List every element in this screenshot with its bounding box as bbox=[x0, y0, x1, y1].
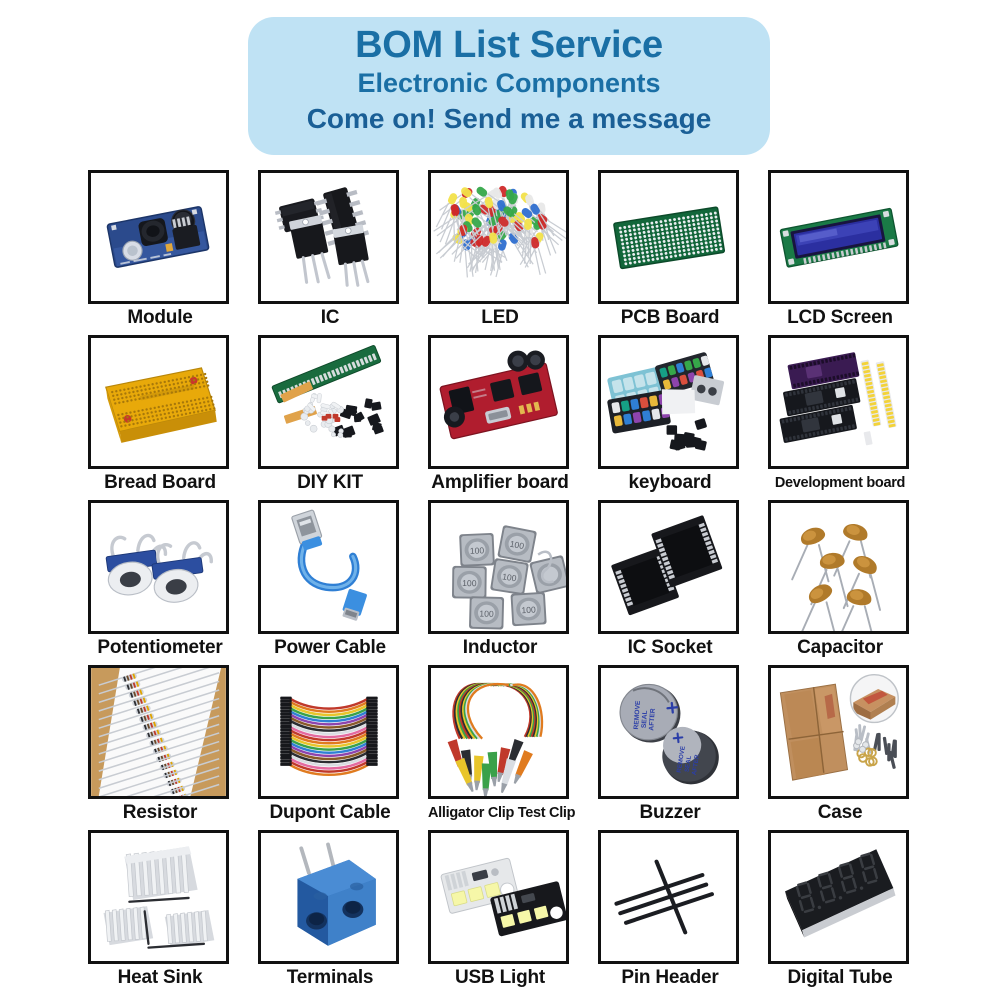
product-cell-ic[interactable]: IC bbox=[258, 170, 428, 335]
product-label: LCD Screen bbox=[768, 307, 912, 329]
product-label: Case bbox=[768, 802, 912, 824]
product-category-grid: Module bbox=[88, 170, 938, 995]
product-image-frame[interactable] bbox=[88, 170, 229, 304]
page-subtitle: Electronic Components bbox=[248, 67, 770, 99]
product-label: Development board bbox=[768, 472, 912, 494]
product-label: USB Light bbox=[428, 967, 572, 989]
product-label: IC Socket bbox=[598, 637, 742, 659]
inductor-icon: 100100100100100100 bbox=[431, 503, 566, 631]
product-image-frame[interactable] bbox=[258, 335, 399, 469]
product-image-frame[interactable] bbox=[768, 830, 909, 964]
svg-text:100: 100 bbox=[479, 608, 494, 618]
product-cell-case[interactable]: Case bbox=[768, 665, 938, 830]
alligator-clip-icon bbox=[431, 668, 566, 796]
product-image-frame[interactable] bbox=[768, 170, 909, 304]
product-label: Inductor bbox=[428, 637, 572, 659]
product-image-frame[interactable] bbox=[598, 830, 739, 964]
product-cell-module[interactable]: Module bbox=[88, 170, 258, 335]
potentiometer-icon bbox=[91, 503, 226, 631]
product-cell-diy-kit[interactable]: DIY KIT bbox=[258, 335, 428, 500]
product-image-frame[interactable] bbox=[258, 830, 399, 964]
digital-tube-icon bbox=[771, 833, 906, 961]
product-image-frame[interactable] bbox=[598, 500, 739, 634]
product-image-frame[interactable] bbox=[768, 335, 909, 469]
product-cell-amplifier-board[interactable]: Amplifier board bbox=[428, 335, 598, 500]
product-image-frame[interactable] bbox=[88, 335, 229, 469]
product-image-frame[interactable] bbox=[258, 170, 399, 304]
diy-kit-icon bbox=[261, 338, 396, 466]
product-label: Buzzer bbox=[598, 802, 742, 824]
product-cell-power-cable[interactable]: Power Cable bbox=[258, 500, 428, 665]
product-label: Bread Board bbox=[88, 472, 232, 494]
product-image-frame[interactable] bbox=[598, 170, 739, 304]
product-label: Power Cable bbox=[258, 637, 402, 659]
product-cell-development-board[interactable]: Development board bbox=[768, 335, 938, 500]
development-board-icon bbox=[771, 338, 906, 466]
product-image-frame[interactable] bbox=[258, 500, 399, 634]
dupont-cable-icon bbox=[261, 668, 396, 796]
heat-sink-icon bbox=[91, 833, 226, 961]
product-image-frame[interactable]: 100100100100100100 bbox=[428, 500, 569, 634]
product-cell-keyboard[interactable]: keyboard bbox=[598, 335, 768, 500]
product-image-frame[interactable] bbox=[428, 830, 569, 964]
product-cell-usb-light[interactable]: USB Light bbox=[428, 830, 598, 995]
product-label: Resistor bbox=[88, 802, 232, 824]
resistor-icon bbox=[91, 668, 226, 796]
usb-light-icon bbox=[431, 833, 566, 961]
product-image-frame[interactable] bbox=[598, 335, 739, 469]
pin-header-icon bbox=[601, 833, 736, 961]
page-title: BOM List Service bbox=[248, 23, 770, 67]
module-icon bbox=[91, 173, 226, 301]
svg-text:100: 100 bbox=[470, 545, 485, 556]
terminals-icon bbox=[261, 833, 396, 961]
product-image-frame[interactable] bbox=[88, 500, 229, 634]
product-label: LED bbox=[428, 307, 572, 329]
product-image-frame[interactable] bbox=[88, 665, 229, 799]
pcb-board-icon bbox=[601, 173, 736, 301]
product-label: IC bbox=[258, 307, 402, 329]
bread-board-icon bbox=[91, 338, 226, 466]
product-label: keyboard bbox=[598, 472, 742, 494]
ic-icon bbox=[261, 173, 396, 301]
product-label: Capacitor bbox=[768, 637, 912, 659]
product-image-frame[interactable] bbox=[428, 665, 569, 799]
svg-text:100: 100 bbox=[462, 578, 477, 588]
product-label: Pin Header bbox=[598, 967, 742, 989]
product-label: PCB Board bbox=[598, 307, 742, 329]
product-cell-led[interactable]: LED bbox=[428, 170, 598, 335]
svg-text:100: 100 bbox=[521, 604, 536, 615]
keyboard-icon bbox=[601, 338, 736, 466]
product-label: Alligator Clip Test Clip bbox=[428, 802, 572, 824]
product-cell-buzzer[interactable]: REMOVE SEAL AFTER REMOVESEALAFTER Buzzer bbox=[598, 665, 768, 830]
product-label: Dupont Cable bbox=[258, 802, 402, 824]
power-cable-icon bbox=[261, 503, 396, 631]
product-cell-inductor[interactable]: 100100100100100100 Inductor bbox=[428, 500, 598, 665]
product-image-frame[interactable] bbox=[768, 665, 909, 799]
product-cell-potentiometer[interactable]: Potentiometer bbox=[88, 500, 258, 665]
product-cell-resistor[interactable]: Resistor bbox=[88, 665, 258, 830]
product-cell-capacitor[interactable]: Capacitor bbox=[768, 500, 938, 665]
header-banner: BOM List Service Electronic Components C… bbox=[248, 17, 770, 155]
product-image-frame[interactable]: REMOVE SEAL AFTER REMOVESEALAFTER bbox=[598, 665, 739, 799]
product-label: Digital Tube bbox=[768, 967, 912, 989]
product-cell-heat-sink[interactable]: Heat Sink bbox=[88, 830, 258, 995]
product-image-frame[interactable] bbox=[428, 170, 569, 304]
product-cell-alligator-clip[interactable]: Alligator Clip Test Clip bbox=[428, 665, 598, 830]
product-cell-lcd-screen[interactable]: LCD Screen bbox=[768, 170, 938, 335]
product-label: Module bbox=[88, 307, 232, 329]
call-to-action-text: Come on! Send me a message bbox=[248, 99, 770, 139]
product-label: DIY KIT bbox=[258, 472, 402, 494]
product-cell-pin-header[interactable]: Pin Header bbox=[598, 830, 768, 995]
product-cell-dupont-cable[interactable]: Dupont Cable bbox=[258, 665, 428, 830]
product-label: Potentiometer bbox=[88, 637, 232, 659]
product-cell-ic-socket[interactable]: IC Socket bbox=[598, 500, 768, 665]
case-icon bbox=[771, 668, 906, 796]
capacitor-icon bbox=[771, 503, 906, 631]
amplifier-board-icon bbox=[431, 338, 566, 466]
product-image-frame[interactable] bbox=[258, 665, 399, 799]
led-icon bbox=[431, 173, 566, 301]
product-image-frame[interactable] bbox=[88, 830, 229, 964]
product-cell-terminals[interactable]: Terminals bbox=[258, 830, 428, 995]
product-label: Amplifier board bbox=[428, 472, 572, 494]
product-label: Terminals bbox=[258, 967, 402, 989]
product-image-frame[interactable] bbox=[428, 335, 569, 469]
product-cell-bread-board[interactable]: Bread Board bbox=[88, 335, 258, 500]
ic-socket-icon bbox=[601, 503, 736, 631]
product-label: Heat Sink bbox=[88, 967, 232, 989]
product-image-frame[interactable] bbox=[768, 500, 909, 634]
product-cell-digital-tube[interactable]: Digital Tube bbox=[768, 830, 938, 995]
product-cell-pcb-board[interactable]: PCB Board bbox=[598, 170, 768, 335]
buzzer-icon: REMOVE SEAL AFTER REMOVESEALAFTER bbox=[601, 668, 736, 796]
lcd-screen-icon bbox=[771, 173, 906, 301]
